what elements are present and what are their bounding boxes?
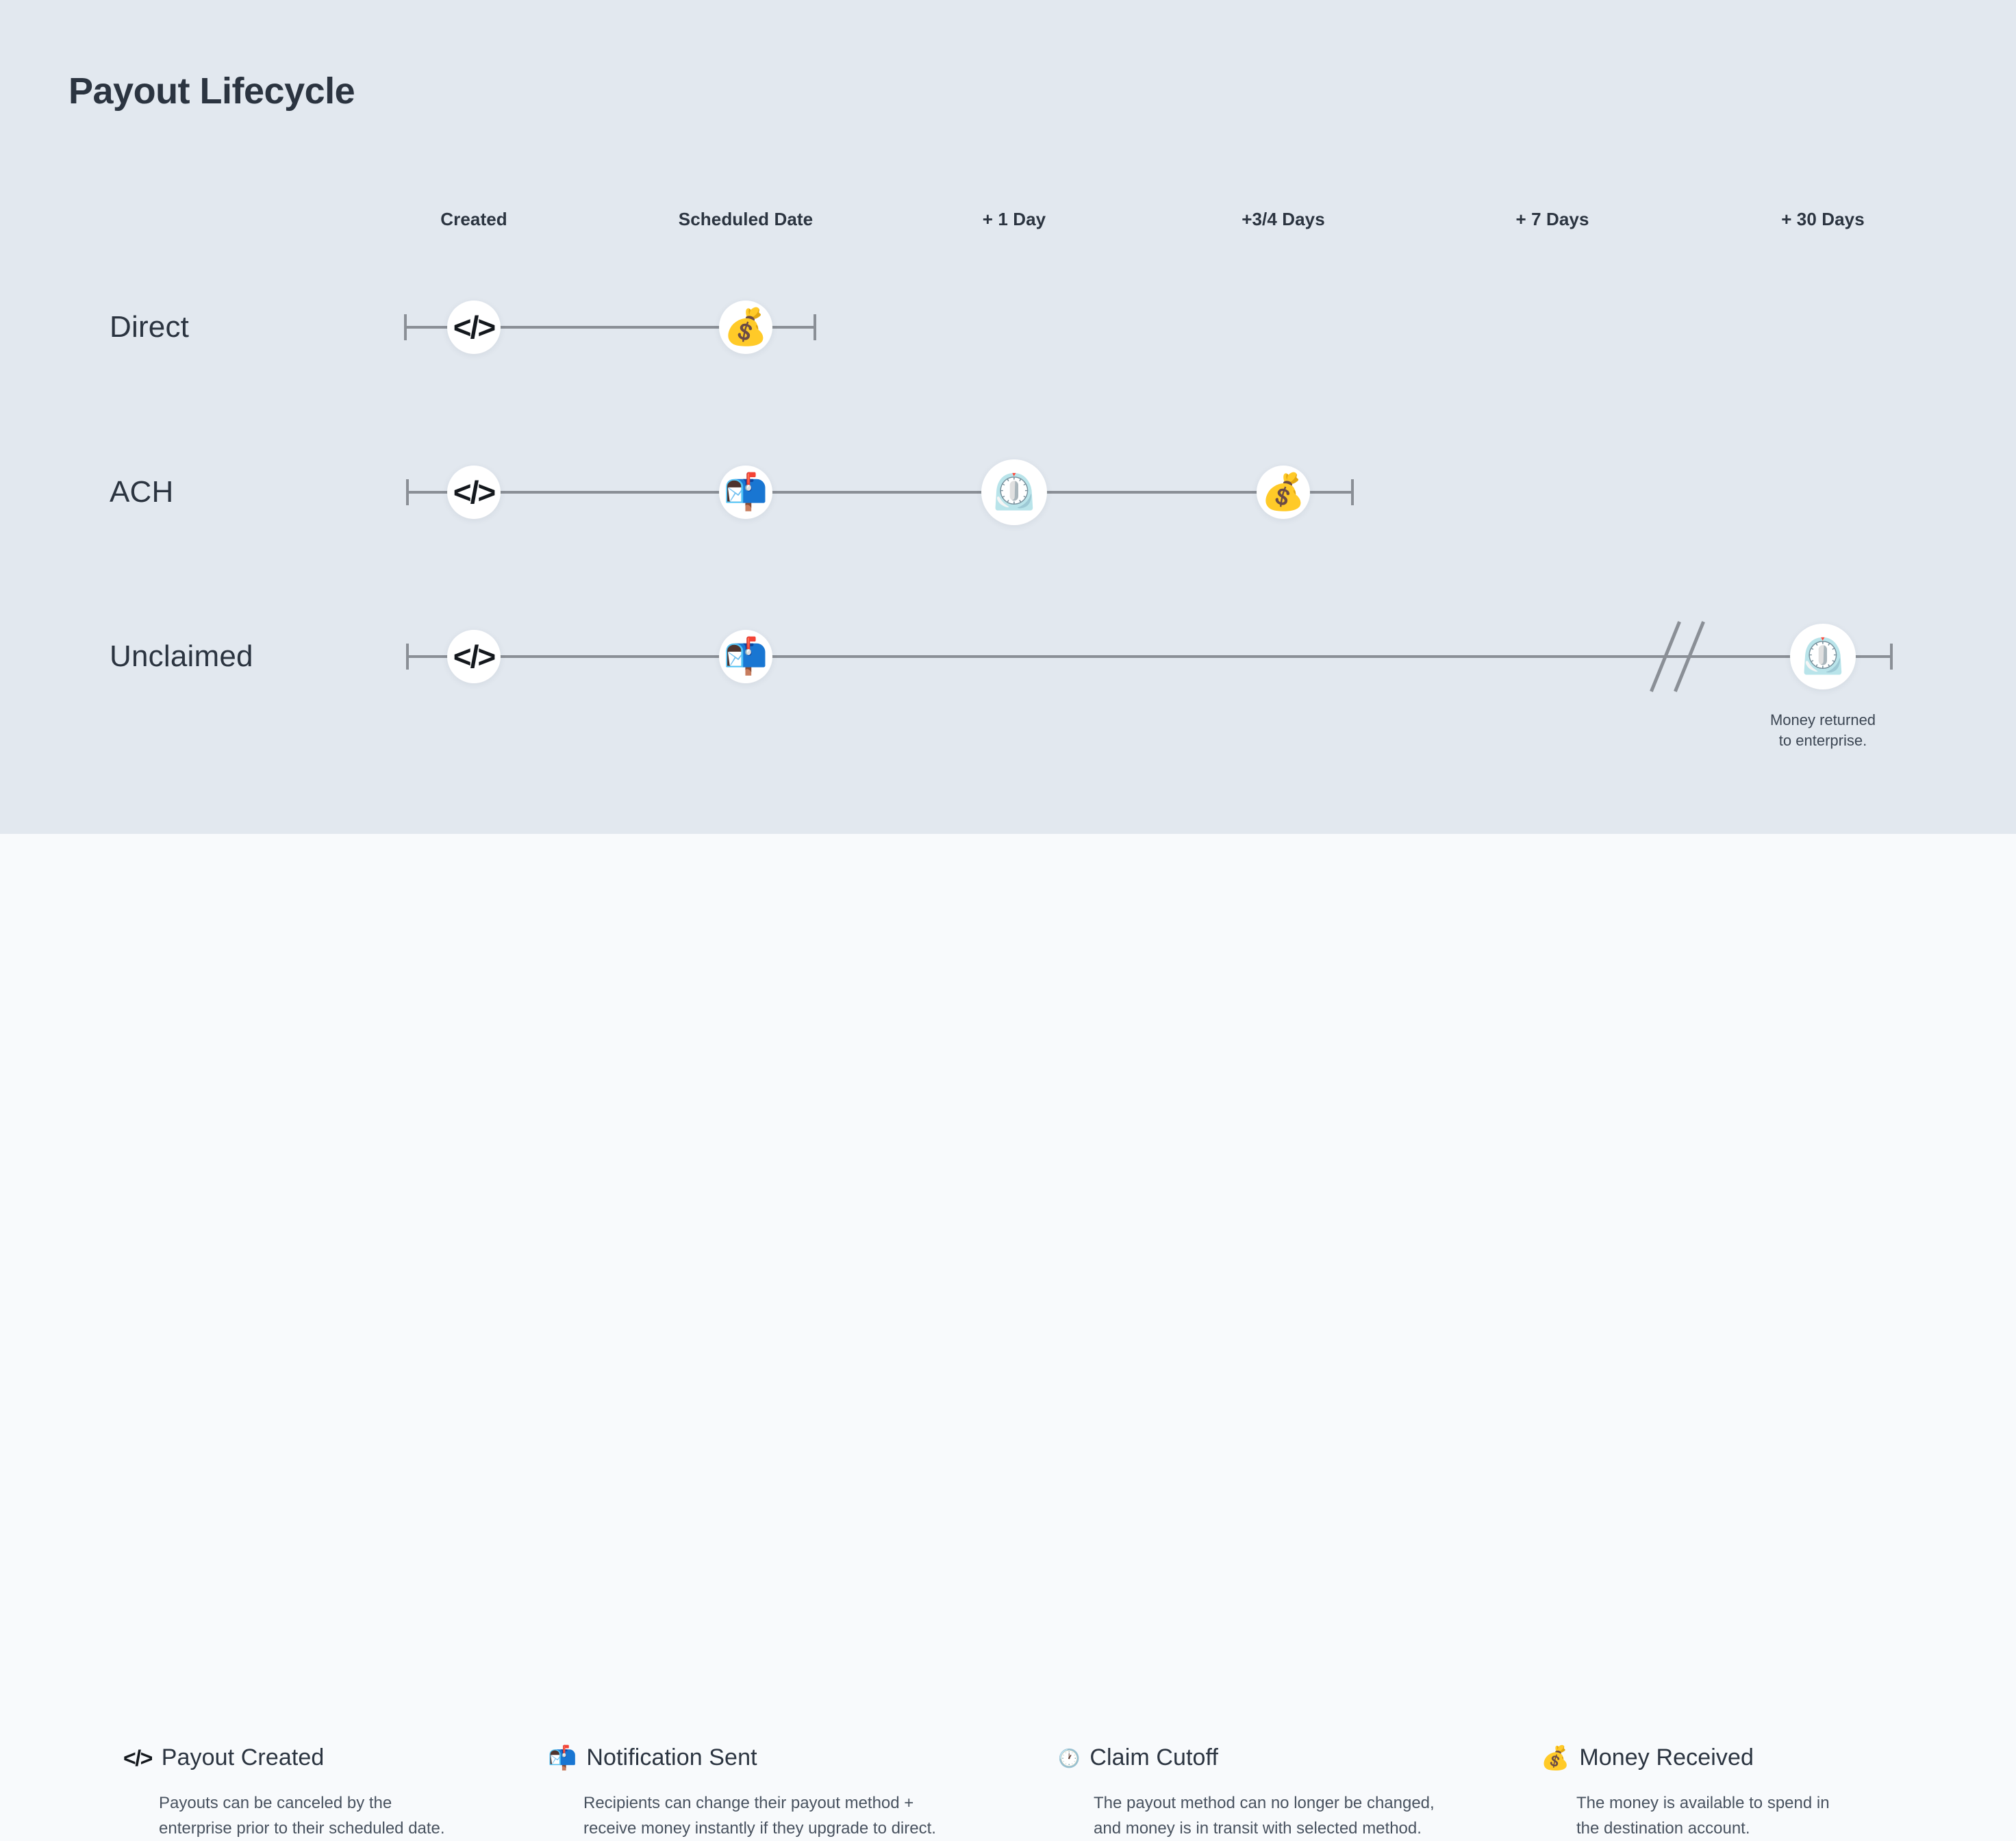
timeline-node-mailbox-icon[interactable]: 📬 [719, 466, 772, 519]
track-start-cap [406, 479, 409, 505]
timeline-node-timer-icon[interactable]: ⏲️ [981, 459, 1047, 525]
node-caption-line-2: to enterprise. [1770, 731, 1876, 751]
track-end-cap [1890, 644, 1893, 670]
legend-item-0: </>Payout CreatedPayouts can be canceled… [123, 1744, 445, 1841]
row-label-direct: Direct [110, 310, 189, 344]
mailbox-icon: 📬 [548, 1747, 577, 1770]
timeline-node-code-icon[interactable]: </> [447, 466, 501, 519]
timeline-node-timer-icon[interactable]: ⏲️ [1790, 624, 1856, 689]
money-bag-icon: 💰 [1541, 1747, 1570, 1770]
column-header-4: + 7 Days [1515, 209, 1589, 230]
timeline-track [407, 655, 1891, 658]
legend-panel: </>Payout CreatedPayouts can be canceled… [0, 834, 2016, 1083]
column-header-0: Created [440, 209, 507, 230]
code-icon: </> [453, 312, 495, 343]
money-bag-icon: 💰 [1261, 474, 1306, 510]
timeline-node-code-icon[interactable]: </> [447, 630, 501, 683]
timer-icon: ⏲️ [1801, 639, 1845, 674]
legend-title: Claim Cutoff [1089, 1744, 1218, 1771]
node-caption-line-1: Money returned [1770, 710, 1876, 731]
track-start-cap [404, 314, 407, 340]
legend-description-line-1: The money is available to spend in [1576, 1790, 1830, 1816]
clock-face-icon: 🕐 [1058, 1749, 1080, 1767]
timeline-node-mailbox-icon[interactable]: 📬 [719, 630, 772, 683]
legend-title: Notification Sent [586, 1744, 757, 1771]
track-start-cap [406, 644, 409, 670]
legend-description-line-2: the destination account. [1576, 1816, 1830, 1841]
legend-description-line-1: Recipients can change their payout metho… [583, 1790, 936, 1816]
payout-lifecycle-page: Payout Lifecycle CreatedScheduled Date+ … [0, 0, 2016, 1083]
row-label-unclaimed: Unclaimed [110, 639, 253, 674]
legend-header: 📬Notification Sent [548, 1744, 936, 1771]
legend-item-2: 🕐Claim CutoffThe payout method can no lo… [1058, 1744, 1435, 1841]
code-icon: </> [453, 641, 495, 672]
legend-description: Recipients can change their payout metho… [583, 1790, 936, 1841]
money-bag-icon: 💰 [724, 309, 768, 345]
code-icon: </> [123, 1747, 152, 1769]
legend-item-1: 📬Notification SentRecipients can change … [548, 1744, 936, 1841]
legend-description: Payouts can be canceled by theenterprise… [159, 1790, 445, 1841]
track-end-cap [1351, 479, 1354, 505]
legend-title: Payout Created [162, 1744, 325, 1771]
column-header-5: + 30 Days [1781, 209, 1865, 230]
column-header-2: + 1 Day [983, 209, 1046, 230]
legend-title: Money Received [1579, 1744, 1754, 1771]
legend-header: 🕐Claim Cutoff [1058, 1744, 1435, 1771]
column-header-1: Scheduled Date [679, 209, 813, 230]
timeline-track [407, 491, 1352, 494]
legend-description-line-1: The payout method can no longer be chang… [1094, 1790, 1435, 1816]
legend-description-line-1: Payouts can be canceled by the [159, 1790, 445, 1816]
code-icon: </> [453, 477, 495, 508]
legend-description-line-2: enterprise prior to their scheduled date… [159, 1816, 445, 1841]
mailbox-icon: 📬 [724, 639, 768, 674]
legend-item-3: 💰Money ReceivedThe money is available to… [1541, 1744, 1830, 1841]
node-caption: Money returnedto enterprise. [1770, 710, 1876, 750]
legend-description-line-2: and money is in transit with selected me… [1094, 1816, 1435, 1841]
timeline-node-money-bag-icon[interactable]: 💰 [719, 301, 772, 354]
track-end-cap [814, 314, 816, 340]
column-header-3: +3/4 Days [1242, 209, 1325, 230]
timeline-node-money-bag-icon[interactable]: 💰 [1257, 466, 1310, 519]
legend-description: The payout method can no longer be chang… [1094, 1790, 1435, 1841]
timer-icon: ⏲️ [992, 474, 1037, 510]
row-label-ach: ACH [110, 475, 174, 509]
diagram-panel: Payout Lifecycle CreatedScheduled Date+ … [0, 0, 2016, 834]
mailbox-icon: 📬 [724, 474, 768, 510]
legend-description-line-2: receive money instantly if they upgrade … [583, 1816, 936, 1841]
legend-description: The money is available to spend inthe de… [1576, 1790, 1830, 1841]
page-title: Payout Lifecycle [68, 70, 355, 112]
legend-header: 💰Money Received [1541, 1744, 1830, 1771]
legend-header: </>Payout Created [123, 1744, 445, 1771]
timeline-node-code-icon[interactable]: </> [447, 301, 501, 354]
